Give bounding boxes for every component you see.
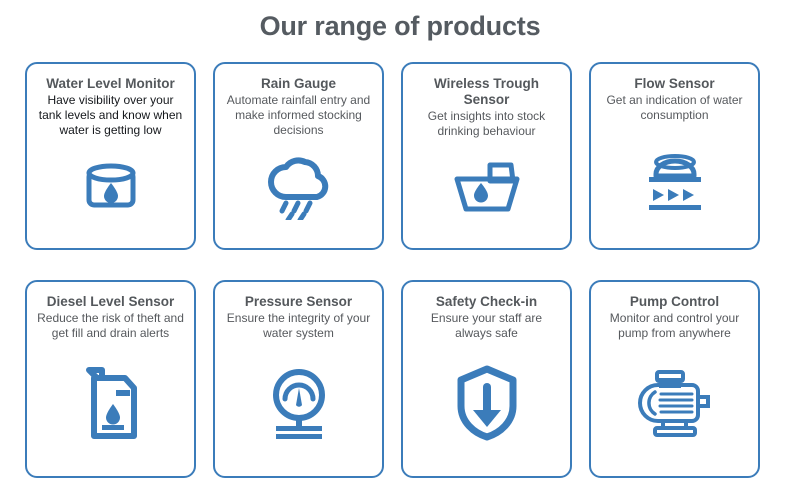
product-title: Water Level Monitor: [46, 76, 175, 92]
product-card-flow-sensor[interactable]: Flow Sensor Get an indication of water c…: [589, 62, 760, 250]
product-grid: Water Level Monitor Have visibility over…: [25, 62, 775, 478]
pressure-gauge-icon: [265, 367, 333, 439]
product-title: Wireless Trough Sensor: [412, 76, 561, 108]
product-description: Get an indication of water consumption: [600, 93, 749, 123]
product-title: Rain Gauge: [261, 76, 336, 92]
water-trough-icon: [452, 159, 522, 217]
product-title: Safety Check-in: [436, 294, 537, 310]
product-title: Pump Control: [630, 294, 719, 310]
product-title: Pressure Sensor: [245, 294, 352, 310]
product-description: Get insights into stock drinking behavio…: [412, 109, 561, 139]
product-card-pressure-sensor[interactable]: Pressure Sensor Ensure the integrity of …: [213, 280, 384, 478]
product-icon-wrap: [412, 341, 561, 468]
product-title: Diesel Level Sensor: [47, 294, 175, 310]
product-icon-wrap: [36, 341, 185, 468]
product-description: Monitor and control your pump from anywh…: [600, 311, 749, 341]
product-row-bottom: Diesel Level Sensor Reduce the risk of t…: [25, 280, 775, 478]
product-row-top: Water Level Monitor Have visibility over…: [25, 62, 775, 250]
product-card-wireless-trough-sensor[interactable]: Wireless Trough Sensor Get insights into…: [401, 62, 572, 250]
product-title: Flow Sensor: [634, 76, 714, 92]
pump-motor-icon: [636, 368, 714, 438]
product-card-pump-control[interactable]: Pump Control Monitor and control your pu…: [589, 280, 760, 478]
product-description: Ensure your staff are always safe: [412, 311, 561, 341]
product-icon-wrap: [36, 138, 185, 240]
product-description: Ensure the integrity of your water syste…: [227, 311, 370, 341]
product-description: Automate rainfall entry and make informe…: [224, 93, 373, 138]
product-card-safety-check-in[interactable]: Safety Check-in Ensure your staff are al…: [401, 280, 572, 478]
products-page: Our range of products Water Level Monito…: [0, 0, 800, 488]
page-title: Our range of products: [0, 0, 800, 52]
product-card-diesel-level-sensor[interactable]: Diesel Level Sensor Reduce the risk of t…: [25, 280, 196, 478]
product-card-water-level-monitor[interactable]: Water Level Monitor Have visibility over…: [25, 62, 196, 250]
product-description: Reduce the risk of theft and get fill an…: [37, 311, 184, 341]
water-tank-icon: [84, 162, 138, 212]
flow-meter-icon: [642, 146, 708, 214]
product-card-rain-gauge[interactable]: Rain Gauge Automate rainfall entry and m…: [213, 62, 384, 250]
product-description: Have visibility over your tank levels an…: [36, 93, 185, 138]
product-icon-wrap: [412, 139, 561, 240]
product-icon-wrap: [600, 341, 749, 468]
jerry-can-icon: [81, 366, 141, 440]
product-icon-wrap: [600, 123, 749, 240]
shield-arrow-icon: [455, 365, 519, 441]
product-icon-wrap: [224, 341, 373, 468]
rain-cloud-icon: [268, 154, 330, 220]
product-icon-wrap: [224, 138, 373, 240]
